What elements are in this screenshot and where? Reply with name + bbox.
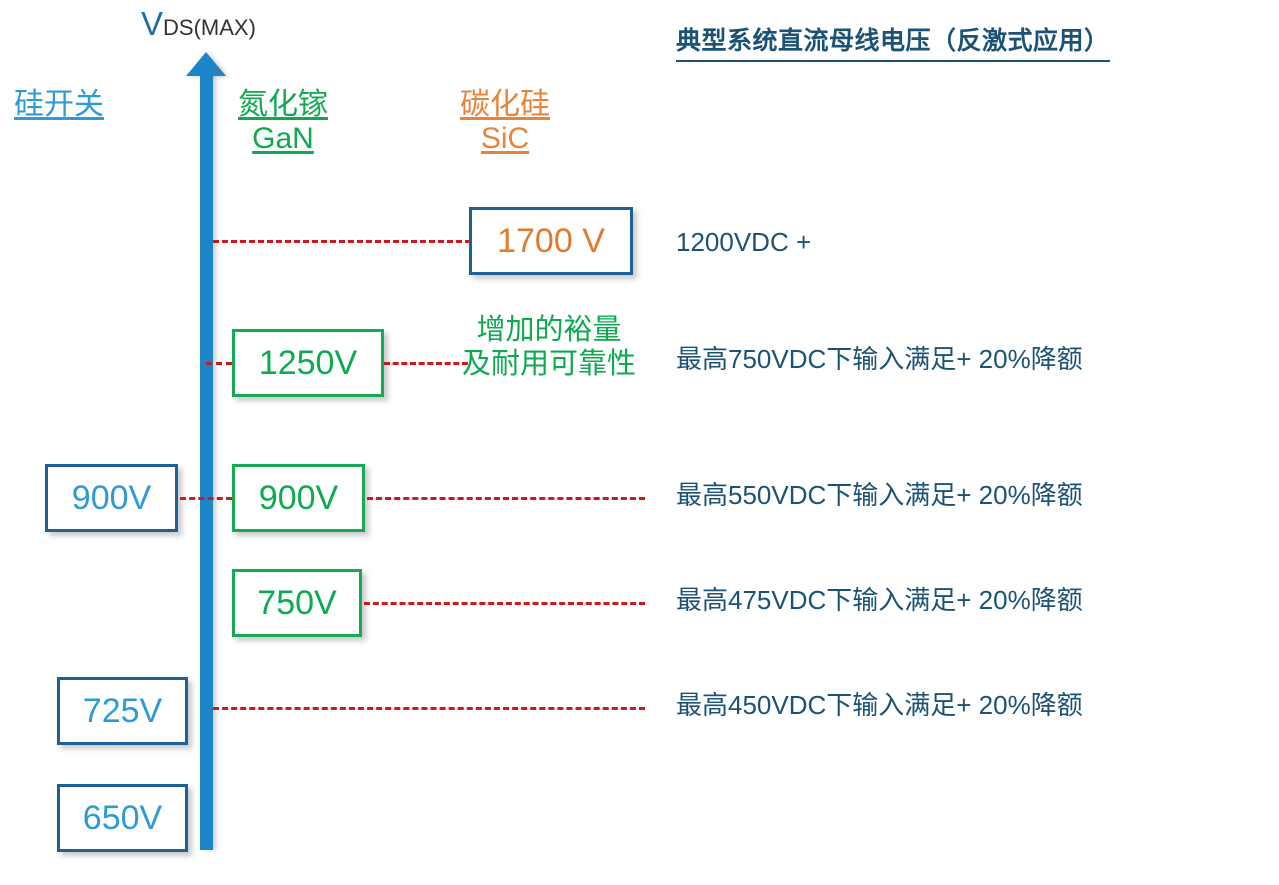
axis-label-subscript: DS(MAX) xyxy=(163,15,256,40)
axis-label-main: V xyxy=(141,5,163,42)
value-box-si-725[interactable]: 725V xyxy=(57,677,188,745)
slide-canvas: VDS(MAX) 硅开关 氮化镓 GaN 碳化硅 SiC 典型系统直流母线电压（… xyxy=(0,0,1279,885)
right-column-heading: 典型系统直流母线电压（反激式应用） xyxy=(676,21,1110,62)
dashed-line-1250-left xyxy=(206,362,232,365)
annotation-margin-reliability: 增加的裕量 及耐用可靠性 xyxy=(444,313,654,381)
column-header-gan-cn: 氮化镓 xyxy=(238,88,328,122)
column-header-sic-en: SiC xyxy=(460,122,550,156)
value-box-si-650[interactable]: 650V xyxy=(57,784,188,852)
vertical-axis xyxy=(200,70,213,850)
dashed-line-900-right xyxy=(367,497,645,500)
annotation-line-2: 及耐用可靠性 xyxy=(444,347,654,381)
dashed-line-750 xyxy=(364,602,645,605)
dashed-line-1700 xyxy=(213,240,471,243)
column-header-gan-en: GaN xyxy=(238,122,328,156)
axis-label: VDS(MAX) xyxy=(141,7,256,40)
description-750: 最高475VDC下输入满足+ 20%降额 xyxy=(676,586,1083,616)
value-box-sic-1700[interactable]: 1700 V xyxy=(469,207,633,275)
column-header-gan: 氮化镓 GaN xyxy=(238,88,328,155)
value-box-gan-750[interactable]: 750V xyxy=(232,569,362,637)
column-header-sic: 碳化硅 SiC xyxy=(460,88,550,155)
dashed-line-725 xyxy=(213,707,645,710)
value-box-si-900[interactable]: 900V xyxy=(45,464,178,532)
column-header-si: 硅开关 xyxy=(14,88,104,122)
description-725: 最高450VDC下输入满足+ 20%降额 xyxy=(676,691,1083,721)
description-1700: 1200VDC + xyxy=(676,228,811,258)
description-1250: 最高750VDC下输入满足+ 20%降额 xyxy=(676,345,1083,375)
column-header-si-cn: 硅开关 xyxy=(14,88,104,122)
column-header-sic-cn: 碳化硅 xyxy=(460,88,550,122)
dashed-line-900-left xyxy=(180,497,232,500)
description-900: 最高550VDC下输入满足+ 20%降额 xyxy=(676,481,1083,511)
annotation-line-1: 增加的裕量 xyxy=(444,313,654,347)
value-box-gan-1250[interactable]: 1250V xyxy=(232,329,384,397)
value-box-gan-900[interactable]: 900V xyxy=(232,464,365,532)
